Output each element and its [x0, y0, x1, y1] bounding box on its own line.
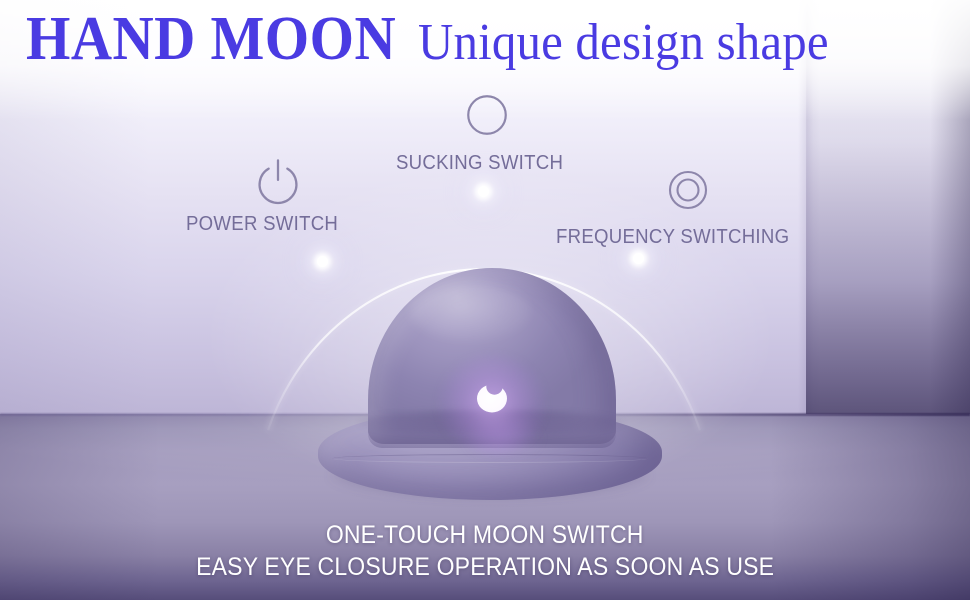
- concentric-rings-icon: [664, 166, 712, 219]
- circle-ring-icon: [462, 90, 512, 145]
- wall-right-vignette: [930, 0, 970, 416]
- callout-label-frequency-switching: FREQUENCY SWITCHING: [556, 226, 789, 249]
- caption-line-2: EASY EYE CLOSURE OPERATION AS SOON AS US…: [0, 553, 970, 582]
- headline: HAND MOONUnique design shape: [26, 8, 926, 70]
- callout-label-sucking-switch: SUCKING SWITCH: [396, 152, 563, 175]
- headline-brand: HAND MOON: [26, 8, 396, 70]
- product-banner: HAND MOONUnique design shape POWER SWITC…: [0, 0, 970, 600]
- caption-line-1: ONE-TOUCH MOON SWITCH: [0, 521, 970, 550]
- headline-tagline: Unique design shape: [418, 17, 829, 69]
- caption-line-1-text: ONE-TOUCH MOON SWITCH: [326, 521, 644, 550]
- caption-line-2-text: EASY EYE CLOSURE OPERATION AS SOON AS US…: [196, 553, 774, 582]
- callout-label-power-switch: POWER SWITCH: [186, 213, 338, 236]
- power-icon: [252, 155, 304, 212]
- product-dome-highlight: [410, 282, 530, 340]
- crescent-moon-icon[interactable]: [473, 379, 511, 415]
- product-image: [318, 268, 662, 508]
